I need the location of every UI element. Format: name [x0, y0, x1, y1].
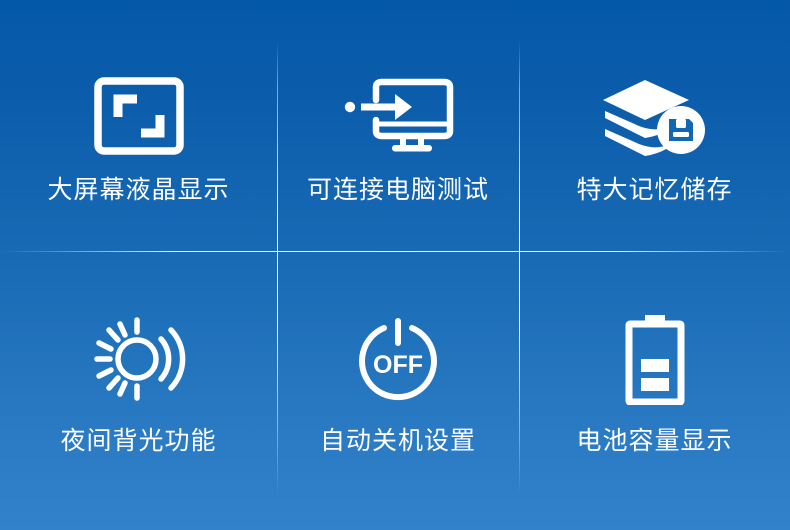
feature-grid: 大屏幕液晶显示	[0, 0, 790, 530]
feature-cell-connect-to-computer-test: 可连接电脑测试	[277, 0, 519, 251]
sun-backlight-icon	[87, 311, 191, 407]
feature-label: 可连接电脑测试	[307, 178, 489, 203]
feature-label: 特大记忆储存	[576, 178, 732, 203]
feature-label: 自动关机设置	[320, 429, 476, 454]
layers-save-icon	[601, 68, 709, 164]
power-off-label: OFF	[373, 351, 423, 379]
feature-cell-auto-power-off-setting: OFF 自动关机设置	[277, 251, 519, 530]
feature-label: 大屏幕液晶显示	[47, 178, 229, 203]
feature-cell-battery-capacity-display: 电池容量显示	[519, 251, 790, 530]
feature-label: 夜间背光功能	[60, 429, 216, 454]
feature-cell-night-backlight-function: 夜间背光功能	[0, 251, 277, 530]
monitor-arrow-in-icon	[340, 68, 456, 164]
feature-cell-large-screen-lcd-display: 大屏幕液晶显示	[0, 0, 277, 251]
power-off-icon: OFF	[354, 311, 442, 407]
battery-icon	[624, 311, 686, 407]
screen-frame-icon	[94, 68, 184, 164]
feature-label: 电池容量显示	[576, 429, 732, 454]
feature-highlights-panel: 大屏幕液晶显示	[0, 0, 790, 530]
feature-cell-extra-large-memory-storage: 特大记忆储存	[519, 0, 790, 251]
